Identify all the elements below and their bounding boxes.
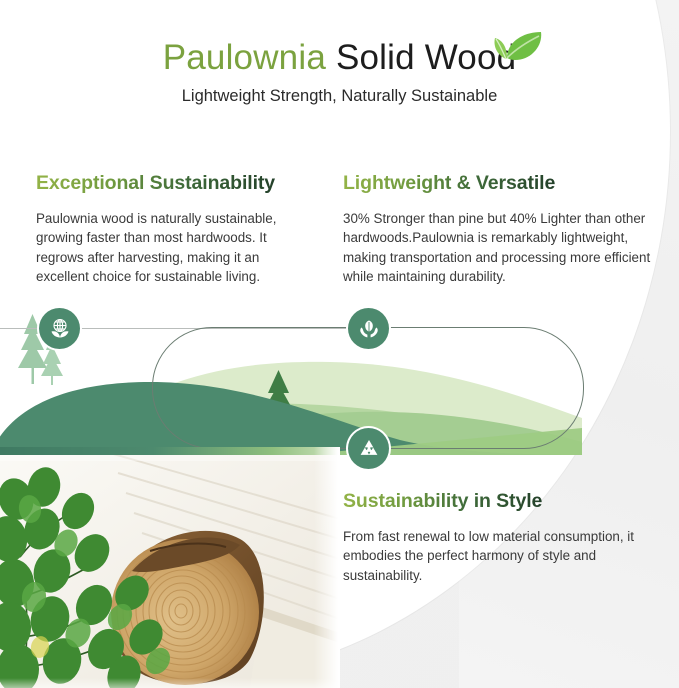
title-brand-word: Paulownia — [163, 38, 326, 77]
feature-lightweight-versatile: Lightweight & Versatile 30% Stronger tha… — [343, 172, 658, 287]
header: Paulownia Solid Wood Lightweight Strengt… — [0, 0, 679, 106]
log-cross-section-with-foliage-photo — [0, 447, 340, 688]
recycle-icon — [348, 428, 389, 469]
feature-body: Paulownia wood is naturally sustainable,… — [36, 209, 304, 287]
globe-leaf-icon — [39, 308, 80, 349]
hands-sprout-icon — [348, 308, 389, 349]
feature-body: From fast renewal to low material consum… — [343, 527, 655, 585]
page-title: Paulownia Solid Wood — [0, 0, 679, 77]
photo-right-fade — [314, 447, 340, 688]
feature-heading: Lightweight & Versatile — [343, 172, 555, 195]
infographic-canvas: Paulownia Solid Wood Lightweight Strengt… — [0, 0, 679, 688]
photo-top-accent-strip — [0, 447, 340, 455]
feature-exceptional-sustainability: Exceptional Sustainability Paulownia woo… — [36, 172, 304, 287]
feature-heading: Exceptional Sustainability — [36, 172, 275, 195]
feature-body: 30% Stronger than pine but 40% Lighter t… — [343, 209, 658, 287]
page-subtitle: Lightweight Strength, Naturally Sustaina… — [0, 87, 679, 106]
leaf-icon — [489, 28, 551, 70]
photo-bottom-fade — [0, 678, 340, 688]
feature-heading: Sustainability in Style — [343, 490, 542, 513]
feature-sustainability-in-style: Sustainability in Style From fast renewa… — [343, 490, 655, 585]
